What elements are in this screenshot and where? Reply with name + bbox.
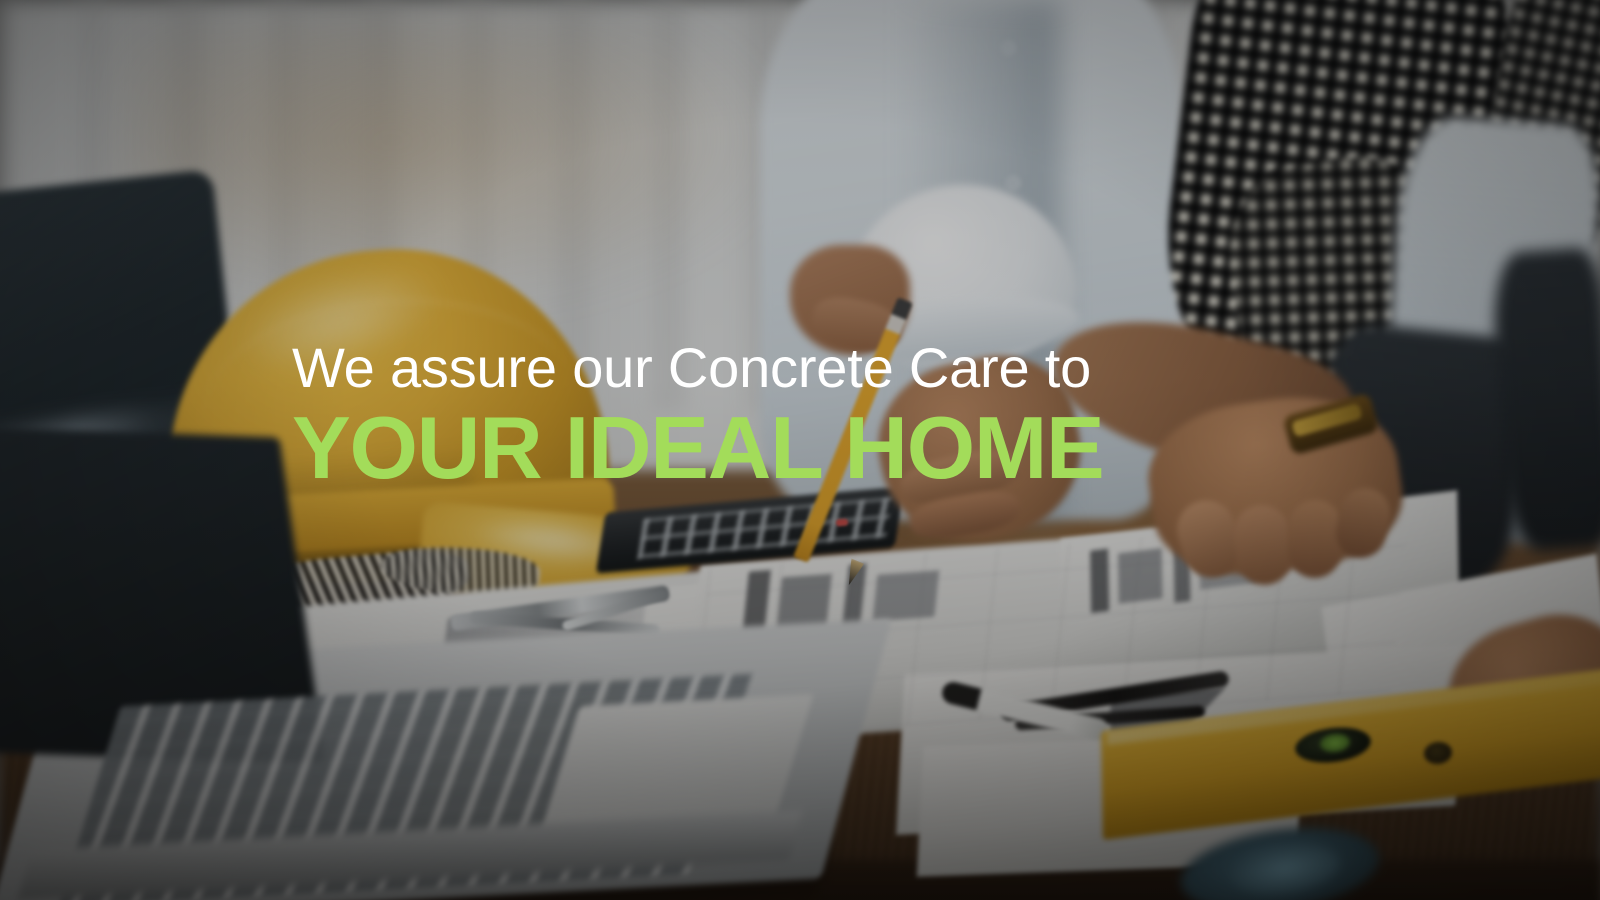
headline-line-2: YOUR IDEAL HOME xyxy=(292,401,1312,495)
headline-line-1: We assure our Concrete Care to xyxy=(292,337,1312,399)
hero-banner: We assure our Concrete Care to YOUR IDEA… xyxy=(0,0,1600,900)
hero-copy: We assure our Concrete Care to YOUR IDEA… xyxy=(292,337,1312,495)
